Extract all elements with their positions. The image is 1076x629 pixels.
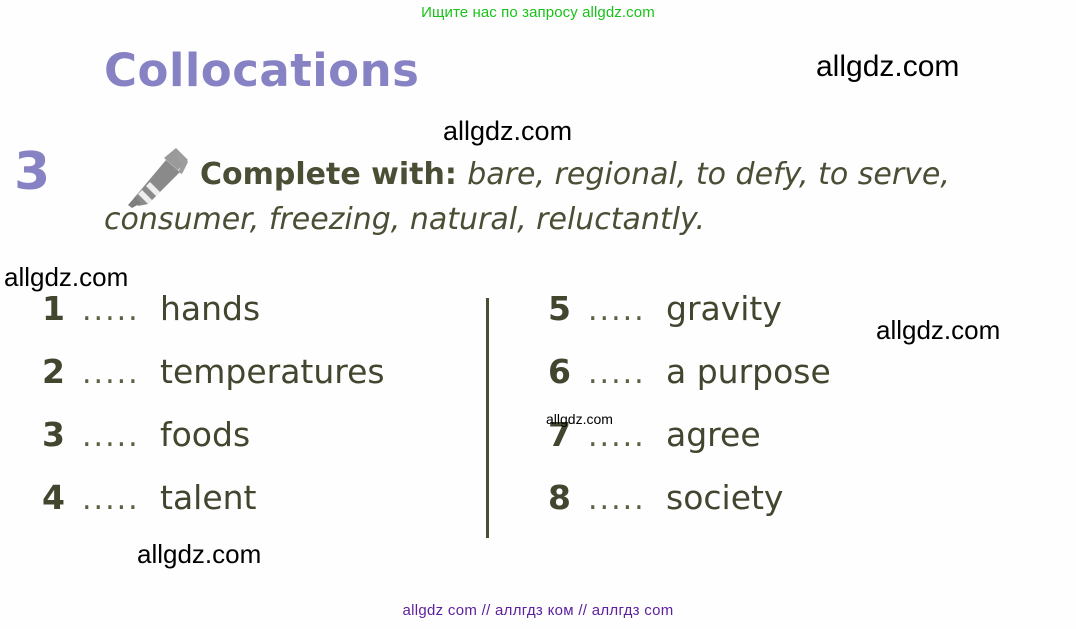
item-blank[interactable]: ..... — [588, 296, 666, 326]
watermark: allgdz.com — [4, 262, 128, 293]
item-number: 2 — [42, 355, 82, 388]
item-blank[interactable]: ..... — [82, 422, 160, 452]
items-column-left: 1 ..... hands 2 ..... temperatures 3 ...… — [42, 292, 472, 544]
item-blank[interactable]: ..... — [82, 485, 160, 515]
item-word: a purpose — [666, 355, 831, 388]
instruction-lead: Complete with: — [104, 157, 467, 192]
column-divider — [486, 298, 489, 538]
item-word: hands — [160, 292, 260, 325]
list-item[interactable]: 4 ..... talent — [42, 481, 472, 544]
item-number: 1 — [42, 292, 82, 325]
watermark: allgdz.com — [816, 50, 959, 84]
item-number: 8 — [548, 481, 588, 514]
item-word: foods — [160, 418, 250, 451]
promo-banner: Ищите нас по запросу allgdz.com — [0, 4, 1076, 21]
list-item[interactable]: 6 ..... a purpose — [548, 355, 978, 418]
item-number: 3 — [42, 418, 82, 451]
item-word: society — [666, 481, 783, 514]
item-number: 6 — [548, 355, 588, 388]
watermark: allgdz.com — [137, 539, 261, 570]
list-item[interactable]: 1 ..... hands — [42, 292, 472, 355]
item-word: talent — [160, 481, 257, 514]
item-blank[interactable]: ..... — [82, 359, 160, 389]
list-item[interactable]: 8 ..... society — [548, 481, 978, 544]
list-item[interactable]: 7 ..... agree — [548, 418, 978, 481]
instruction-text: Complete with: bare, regional, to defy, … — [104, 152, 1034, 242]
item-word: agree — [666, 418, 761, 451]
list-item[interactable]: 3 ..... foods — [42, 418, 472, 481]
item-blank[interactable]: ..... — [588, 485, 666, 515]
item-number: 4 — [42, 481, 82, 514]
watermark: allgdz.com — [443, 116, 572, 147]
list-item[interactable]: 2 ..... temperatures — [42, 355, 472, 418]
item-blank[interactable]: ..... — [82, 296, 160, 326]
watermark: allgdz.com — [546, 411, 613, 427]
item-word: gravity — [666, 292, 782, 325]
exercise-number: 3 — [14, 146, 50, 198]
item-word: temperatures — [160, 355, 385, 388]
watermark: allgdz.com — [876, 315, 1000, 346]
footer-branding: allgdz com // аллгдз ком // аллгдз com — [0, 602, 1076, 619]
item-number: 5 — [548, 292, 588, 325]
page-title: Collocations — [104, 48, 419, 93]
item-blank[interactable]: ..... — [588, 359, 666, 389]
